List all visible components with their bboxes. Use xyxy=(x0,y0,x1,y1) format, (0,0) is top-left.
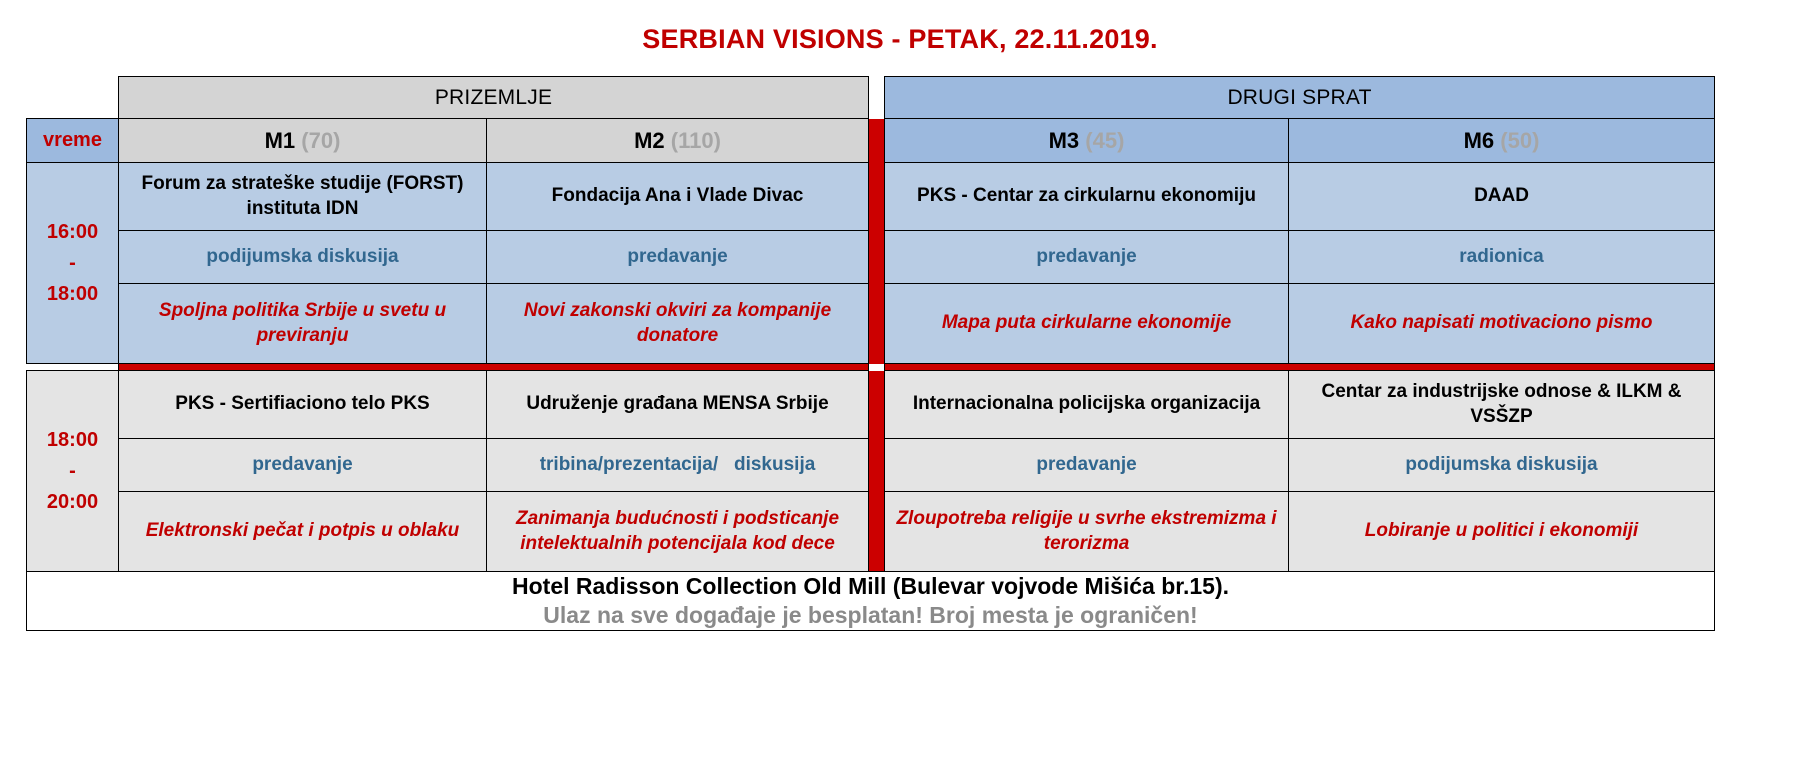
room-code-m1: M1 xyxy=(265,128,296,153)
session-topic-b2-m6: Lobiranje u politici i ekonomiji xyxy=(1289,492,1715,572)
footer-row: Hotel Radisson Collection Old Mill (Bule… xyxy=(27,572,1715,631)
room-capacity-m6: (50) xyxy=(1500,128,1539,153)
room-code-m3: M3 xyxy=(1049,128,1080,153)
session-topic-b2-m3: Zloupotreba religije u svrhe ekstremizma… xyxy=(885,492,1289,572)
room-code-m6: M6 xyxy=(1464,128,1495,153)
block-divider-left xyxy=(119,364,869,371)
session-organizer-b2-m2: Udruženje građana MENSA Srbije xyxy=(487,371,869,439)
room-header-row: vreme M1 (70) M2 (110) M3 (45) xyxy=(27,119,1715,163)
block-divider-time-spacer xyxy=(27,364,119,371)
time-slot-1-start: 16:00 xyxy=(27,217,118,248)
room-capacity-m3: (45) xyxy=(1085,128,1124,153)
session-kind-b2-m6: podijumska diskusija xyxy=(1289,439,1715,492)
session-topic-b2-m1: Elektronski pečat i potpis u oblaku xyxy=(119,492,487,572)
session-organizer-b2-m3: Internacionalna policijska organizacija xyxy=(885,371,1289,439)
time-slot-2-end: 20:00 xyxy=(27,487,118,518)
corner-spacer xyxy=(27,77,119,119)
block-divider-row xyxy=(27,364,1715,371)
session-topic-b1-m2: Novi zakonski okviri za kompanije donato… xyxy=(487,284,869,364)
vertical-red-separator-block-1 xyxy=(869,163,885,364)
room-header-m1: M1 (70) xyxy=(119,119,487,163)
session-topic-b1-m1: Spoljna politika Srbije u svetu u previr… xyxy=(119,284,487,364)
room-header-m6: M6 (50) xyxy=(1289,119,1715,163)
room-code-m2: M2 xyxy=(634,128,665,153)
session-organizer-b2-m1: PKS - Sertifiaciono telo PKS xyxy=(119,371,487,439)
footer-notice: Ulaz na sve događaje je besplatan! Broj … xyxy=(27,601,1714,630)
session-kind-b1-m6: radionica xyxy=(1289,231,1715,284)
session-topic-b1-m6: Kako napisati motivaciono pismo xyxy=(1289,284,1715,364)
session-topic-b1-m3: Mapa puta cirkularne ekonomije xyxy=(885,284,1289,364)
block-divider-center-spacer xyxy=(869,364,885,371)
time-slot-2-start: 18:00 xyxy=(27,425,118,456)
floor-separator-spacer xyxy=(869,77,885,119)
floor-header-prizemlje: PRIZEMLJE xyxy=(119,77,869,119)
session-organizer-b2-m6: Centar za industrijske odnose & ILKM & V… xyxy=(1289,371,1715,439)
room-header-m2: M2 (110) xyxy=(487,119,869,163)
schedule-table: PRIZEMLJE DRUGI SPRAT vreme M1 (70) M2 (… xyxy=(26,76,1715,631)
session-organizer-b1-m3: PKS - Centar za cirkularnu ekonomiju xyxy=(885,163,1289,231)
block-1-organizer-row: 16:00 - 18:00 Forum za strateške studije… xyxy=(27,163,1715,231)
block-2-organizer-row: 18:00 - 20:00 PKS - Sertifiaciono telo P… xyxy=(27,371,1715,439)
footer-venue: Hotel Radisson Collection Old Mill (Bule… xyxy=(27,572,1714,601)
time-slot-1-end: 18:00 xyxy=(27,279,118,310)
schedule-table-wrapper: PRIZEMLJE DRUGI SPRAT vreme M1 (70) M2 (… xyxy=(26,76,1714,631)
time-slot-1: 16:00 - 18:00 xyxy=(27,163,119,364)
room-capacity-m2: (110) xyxy=(671,128,721,153)
session-kind-b1-m2: predavanje xyxy=(487,231,869,284)
time-slot-2-dash: - xyxy=(27,456,118,487)
page-title: SERBIAN VISIONS - PETAK, 22.11.2019. xyxy=(642,26,1157,53)
session-kind-b1-m3: predavanje xyxy=(885,231,1289,284)
session-organizer-b1-m6: DAAD xyxy=(1289,163,1715,231)
page-title-bar: SERBIAN VISIONS - PETAK, 22.11.2019. xyxy=(0,0,1800,59)
schedule-page: SERBIAN VISIONS - PETAK, 22.11.2019. PRI… xyxy=(0,0,1800,784)
room-header-m3: M3 (45) xyxy=(885,119,1289,163)
session-kind-b1-m1: podijumska diskusija xyxy=(119,231,487,284)
session-kind-b2-m1: predavanje xyxy=(119,439,487,492)
time-slot-1-dash: - xyxy=(27,248,118,279)
session-topic-b2-m2: Zanimanja budućnosti i podsticanje intel… xyxy=(487,492,869,572)
vertical-red-separator-header xyxy=(869,119,885,163)
session-kind-b2-m3: predavanje xyxy=(885,439,1289,492)
session-kind-b2-m2: tribina/prezentacija/ diskusija xyxy=(487,439,869,492)
session-organizer-b1-m2: Fondacija Ana i Vlade Divac xyxy=(487,163,869,231)
block-divider-right xyxy=(885,364,1715,371)
footer-cell: Hotel Radisson Collection Old Mill (Bule… xyxy=(27,572,1715,631)
floor-header-drugi-sprat: DRUGI SPRAT xyxy=(885,77,1715,119)
room-capacity-m1: (70) xyxy=(301,128,340,153)
session-organizer-b1-m1: Forum za strateške studije (FORST) insti… xyxy=(119,163,487,231)
time-slot-2: 18:00 - 20:00 xyxy=(27,371,119,572)
vreme-header: vreme xyxy=(27,119,119,163)
floor-header-row: PRIZEMLJE DRUGI SPRAT xyxy=(27,77,1715,119)
vertical-red-separator-block-2 xyxy=(869,371,885,572)
